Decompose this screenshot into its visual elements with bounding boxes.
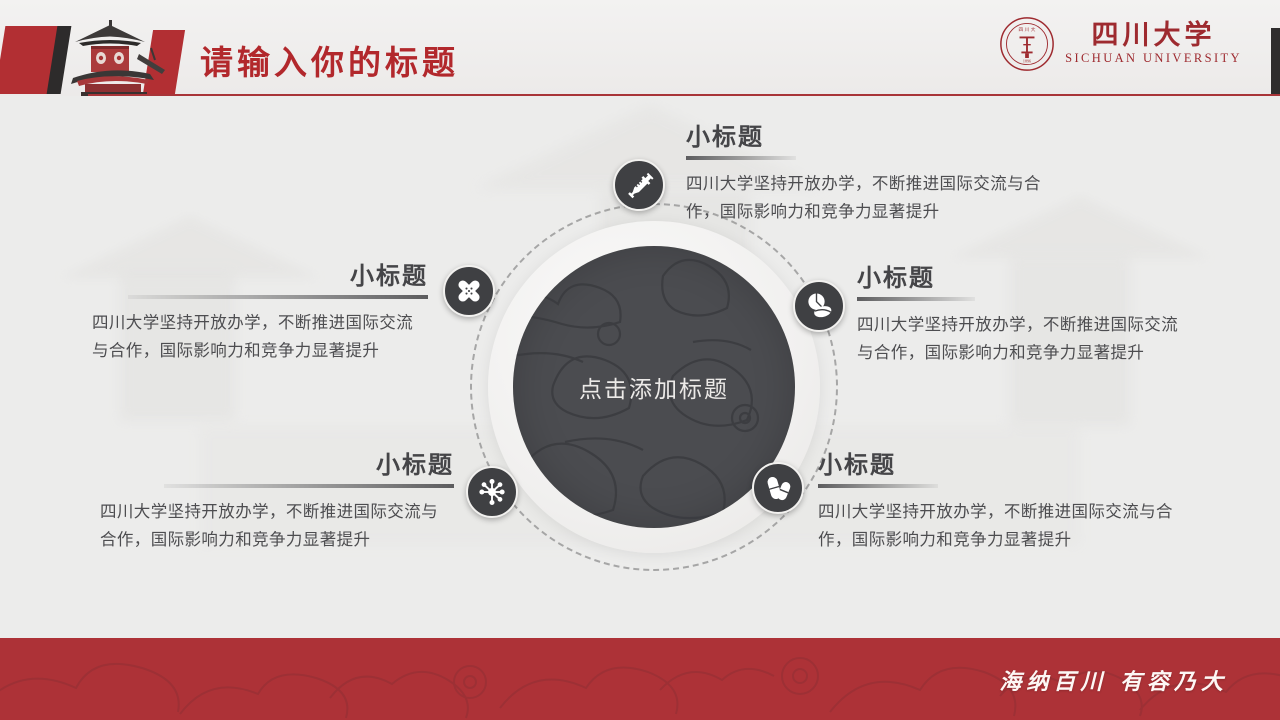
item-rule-left bbox=[128, 295, 428, 299]
item-block-left: 小标题 四川大学坚持开放办学，不断推进国际交流与合作，国际影响力和竞争力显著提升 bbox=[60, 263, 428, 364]
slide-canvas: 请输入你的标题 四 川 大 1896 四川大学 SICHUAN UNIVERSI… bbox=[0, 0, 1280, 720]
item-title-bottom-right: 小标题 bbox=[818, 452, 1190, 478]
item-body-bottom-left: 四川大学坚持开放办学，不断推进国际交流与合作，国际影响力和竞争力显著提升 bbox=[100, 498, 454, 552]
slide-footer: 海纳百川 有容乃大 bbox=[0, 638, 1280, 720]
header-underline bbox=[88, 94, 1280, 96]
svg-text:1896: 1896 bbox=[1023, 59, 1031, 64]
university-logo: 四 川 大 1896 四川大学 SICHUAN UNIVERSITY bbox=[999, 16, 1242, 72]
university-seal-icon: 四 川 大 1896 bbox=[999, 16, 1055, 72]
footer-motto: 海纳百川 有容乃大 bbox=[999, 664, 1228, 696]
item-title-bottom-left: 小标题 bbox=[80, 452, 454, 478]
capsules-icon bbox=[763, 473, 793, 503]
pills-tablets-icon bbox=[804, 291, 834, 321]
center-label: 点击添加标题 bbox=[513, 370, 795, 404]
header-edge-bar bbox=[1271, 28, 1280, 94]
page-title: 请输入你的标题 bbox=[200, 36, 459, 84]
svg-text:四 川 大: 四 川 大 bbox=[1019, 26, 1036, 33]
bandage-cross-icon bbox=[454, 276, 484, 306]
syringe-icon bbox=[624, 170, 654, 200]
item-block-bottom-right: 小标题 四川大学坚持开放办学，不断推进国际交流与合作，国际影响力和竞争力显著提升 bbox=[818, 452, 1190, 553]
item-rule-top bbox=[686, 156, 796, 160]
molecule-network-icon bbox=[477, 477, 507, 507]
item-block-top: 小标题 四川大学坚持开放办学，不断推进国际交流与合作，国际影响力和竞争力显著提升 bbox=[686, 124, 1066, 225]
item-body-bottom-right: 四川大学坚持开放办学，不断推进国际交流与合作，国际影响力和竞争力显著提升 bbox=[818, 498, 1190, 552]
icon-bubble-bottom-left[interactable] bbox=[466, 466, 518, 518]
icon-bubble-right[interactable] bbox=[793, 280, 845, 332]
item-rule-bottom-left bbox=[164, 484, 454, 488]
item-body-left: 四川大学坚持开放办学，不断推进国际交流与合作，国际影响力和竞争力显著提升 bbox=[92, 309, 428, 363]
item-rule-bottom-right bbox=[818, 484, 938, 488]
logo-english-name: SICHUAN UNIVERSITY bbox=[1065, 51, 1242, 66]
item-block-bottom-left: 小标题 四川大学坚持开放办学，不断推进国际交流与合作，国际影响力和竞争力显著提升 bbox=[80, 452, 454, 553]
icon-bubble-left[interactable] bbox=[443, 265, 495, 317]
logo-chinese-name: 四川大学 bbox=[1092, 22, 1216, 50]
slide-header: 请输入你的标题 四 川 大 1896 四川大学 SICHUAN UNIVERSI… bbox=[0, 0, 1280, 96]
pagoda-building-icon bbox=[55, 18, 170, 96]
item-body-right: 四川大学坚持开放办学，不断推进国际交流与合作，国际影响力和竞争力显著提升 bbox=[857, 311, 1187, 365]
item-title-top: 小标题 bbox=[686, 124, 1066, 150]
icon-bubble-bottom-right[interactable] bbox=[752, 462, 804, 514]
icon-bubble-top[interactable] bbox=[613, 159, 665, 211]
item-body-top: 四川大学坚持开放办学，不断推进国际交流与合作，国际影响力和竞争力显著提升 bbox=[686, 170, 1066, 224]
item-title-left: 小标题 bbox=[60, 263, 428, 289]
item-block-right: 小标题 四川大学坚持开放办学，不断推进国际交流与合作，国际影响力和竞争力显著提升 bbox=[857, 265, 1187, 366]
item-rule-right bbox=[857, 297, 975, 301]
item-title-right: 小标题 bbox=[857, 265, 1187, 291]
